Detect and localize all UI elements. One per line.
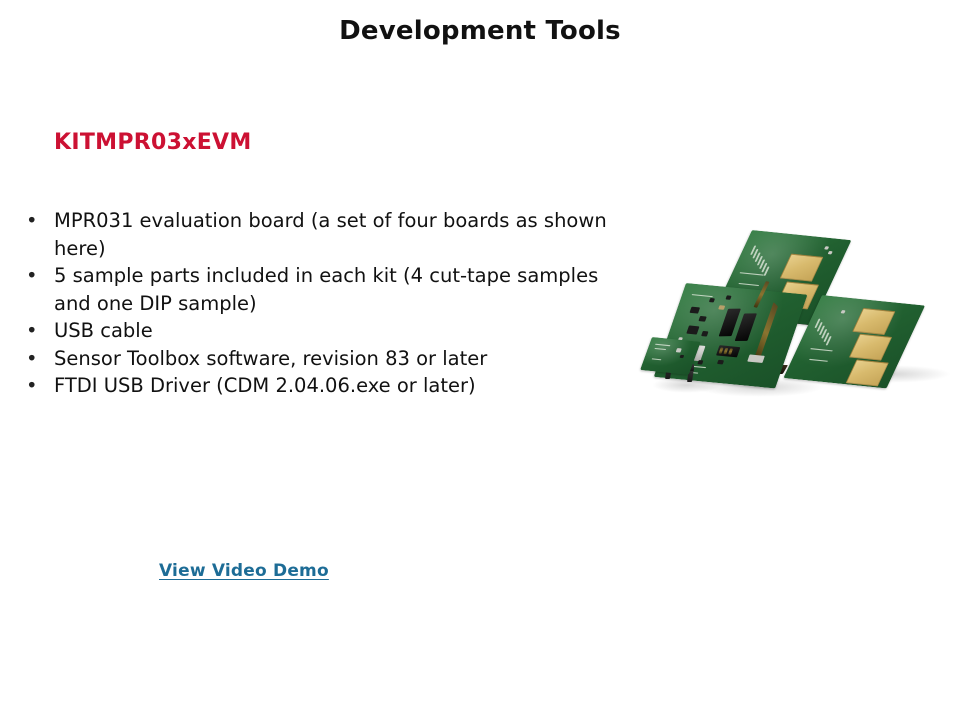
list-item: • Sensor Toolbox software, revision 83 o…: [18, 345, 618, 373]
component: [679, 355, 684, 358]
connector: [735, 313, 757, 341]
component: [698, 316, 706, 322]
list-item: • 5 sample parts included in each kit (4…: [18, 262, 618, 317]
list-item: • FTDI USB Driver (CDM 2.04.06.exe or la…: [18, 372, 618, 400]
kit-product-photo: [636, 225, 952, 405]
photo-stage: [636, 225, 952, 405]
silkscreen-mark: [691, 294, 712, 297]
component: [697, 360, 703, 365]
component: [676, 348, 682, 353]
silkscreen-mark: [651, 358, 661, 360]
component: [717, 360, 724, 365]
component: [725, 295, 731, 300]
list-item: • MPR031 evaluation board (a set of four…: [18, 207, 618, 262]
touch-pad: [780, 254, 824, 282]
component: [689, 307, 700, 314]
bullet-marker-icon: •: [26, 262, 38, 290]
silkscreen-mark: [810, 348, 833, 352]
page-title: Development Tools: [0, 16, 960, 46]
list-item: • USB cable: [18, 317, 618, 345]
component: [701, 331, 708, 337]
bullet-marker-icon: •: [26, 345, 38, 373]
list-item-text: Sensor Toolbox software, revision 83 or …: [54, 347, 487, 370]
list-item-text: MPR031 evaluation board (a set of four b…: [54, 209, 607, 260]
label-sticker: [747, 354, 765, 363]
bullet-marker-icon: •: [26, 372, 38, 400]
video-link-container: View Video Demo: [159, 561, 329, 581]
silkscreen-mark: [655, 344, 671, 347]
component: [709, 298, 715, 303]
slide-canvas: Development Tools KITMPR03xEVM • MPR031 …: [0, 0, 960, 720]
silkscreen-mark: [654, 348, 666, 351]
component: [718, 305, 725, 310]
touch-pad: [846, 359, 889, 386]
silkscreen-mark: [738, 283, 759, 287]
touch-pad: [852, 308, 895, 335]
list-item-text: USB cable: [54, 319, 153, 342]
component: [841, 310, 846, 313]
silkscreen-mark: [809, 359, 828, 362]
bullet-marker-icon: •: [26, 317, 38, 345]
component: [828, 251, 833, 254]
touch-pad: [849, 334, 892, 361]
list-item-text: 5 sample parts included in each kit (4 c…: [54, 264, 598, 315]
kit-name-heading: KITMPR03xEVM: [54, 130, 252, 155]
feature-bullet-list: • MPR031 evaluation board (a set of four…: [18, 207, 618, 400]
list-item-text: FTDI USB Driver (CDM 2.04.06.exe or late…: [54, 374, 476, 397]
silkscreen-mark: [739, 272, 764, 276]
component: [686, 325, 699, 334]
component: [824, 246, 829, 249]
bullet-marker-icon: •: [26, 207, 38, 235]
view-video-demo-link[interactable]: View Video Demo: [159, 561, 329, 581]
